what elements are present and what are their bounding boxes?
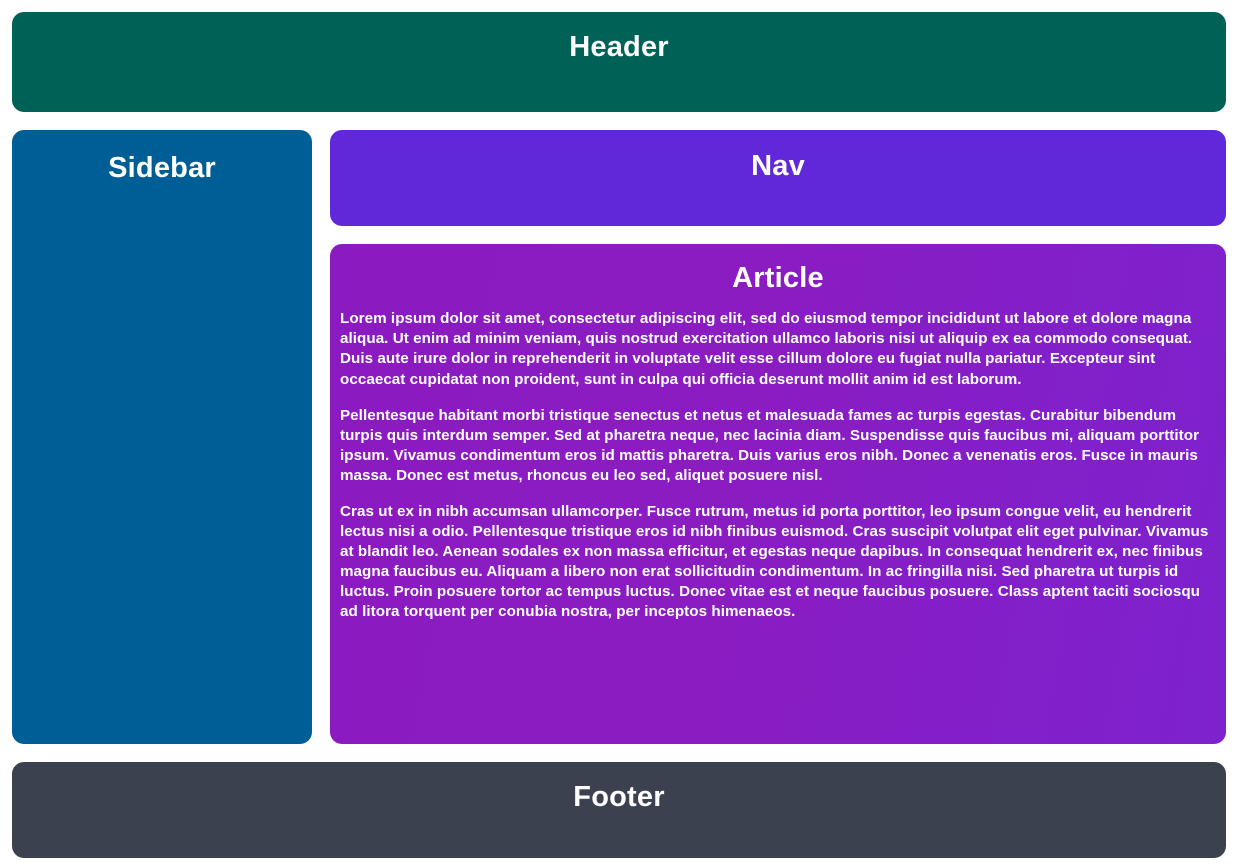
header-region: Header [12,12,1226,112]
header-title: Header [12,31,1226,64]
nav-title: Nav [330,150,1226,183]
sidebar-title: Sidebar [12,152,312,185]
article-paragraph-3: Cras ut ex in nibh accumsan ullamcorper.… [340,502,1216,622]
footer-title: Footer [12,781,1226,814]
footer-region: Footer [12,762,1226,858]
article-paragraph-1: Lorem ipsum dolor sit amet, consectetur … [340,309,1216,389]
page-layout-grid: Header Sidebar Nav Article Lorem ipsum d… [0,0,1238,867]
article-paragraph-2: Pellentesque habitant morbi tristique se… [340,406,1216,486]
article-region: Article Lorem ipsum dolor sit amet, cons… [330,244,1226,744]
article-title: Article [340,262,1216,295]
article-body: Lorem ipsum dolor sit amet, consectetur … [340,309,1216,622]
nav-region[interactable]: Nav [330,130,1226,226]
sidebar-region: Sidebar [12,130,312,744]
